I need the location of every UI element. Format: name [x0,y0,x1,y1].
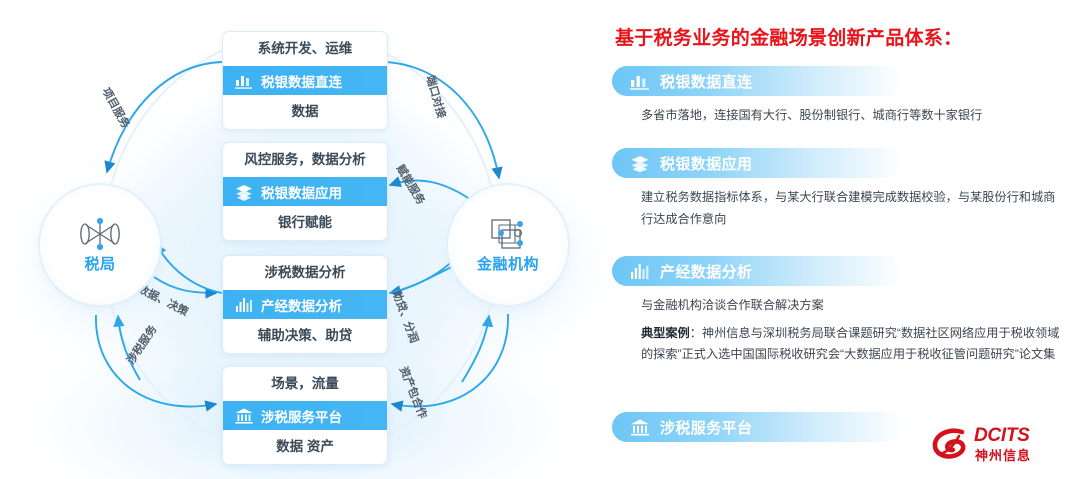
bar-chart-tall-icon [234,296,254,314]
dcits-swirl-logo-icon [932,427,970,461]
diagram-card-tax-bank-data-direct-connect[interactable]: 系统开发、运维 税银数据直连 数据 [222,31,388,130]
card-bottom-text: 数据 [223,95,387,129]
layers-icon [629,154,651,173]
section-body-line: 多省市落地，连接国有大行、股份制银行、城商行等数十家银行 [641,105,1064,127]
section-heading-label: 涉税服务平台 [660,417,752,438]
diagram-card-tax-bank-data-application[interactable]: 风控服务，数据分析 税银数据应用 银行赋能 [222,142,388,241]
card-highlight-label: 产经数据分析 [261,295,342,315]
card-highlight-row: 税银数据直连 [223,66,387,95]
ecosystem-diagram: 项目服务 数据、决策 涉税服务 端口对接 赋能服务 助贷、分润 资产包合作 税局 [0,0,600,479]
section-body: 建立税务数据指标体系，与某大行联合建模完成数据校验，与某股份行和城商行达成合作意… [612,187,1064,230]
diagram-card-industrial-economic-data-analysis[interactable]: 涉税数据分析 产经数据分析 辅助决策、助贷 [222,255,388,354]
bank-building-icon [234,407,254,425]
card-bottom-text: 辅助决策、助贷 [223,319,387,353]
card-highlight-label: 税银数据应用 [261,182,342,202]
card-top-text: 系统开发、运维 [223,32,387,66]
bar-chart-icon [234,72,254,90]
card-highlight-label: 涉税服务平台 [261,406,342,426]
section-heading-pill[interactable]: 税银数据应用 [612,148,904,178]
card-top-text: 风控服务，数据分析 [223,143,387,177]
section-heading-pill[interactable]: 涉税服务平台 [612,412,904,442]
card-highlight-row: 涉税服务平台 [223,401,387,430]
section-industrial-economic-data-analysis: 产经数据分析 与金融机构洽谈合作联合解决方案 典型案例：神州信息与深圳税务局联合… [612,256,1064,366]
card-highlight-label: 税银数据直连 [261,71,342,91]
node-tax-bureau-label: 税局 [84,253,115,274]
node-tax-bureau[interactable]: 税局 [47,192,153,298]
logo-name-cn: 神州信息 [975,445,1031,464]
panel-title: 基于税务业务的金融场景创新产品体系： [615,23,962,50]
diagram-card-tax-related-service-platform[interactable]: 场景，流量 涉税服务平台 数据 资产 [222,366,388,465]
bank-building-icon [629,418,651,437]
card-highlight-row: 税银数据应用 [223,177,387,206]
tax-bureau-icon [77,217,123,251]
node-financial-institution[interactable]: 金融机构 [455,192,561,298]
section-heading-label: 税银数据直连 [660,71,752,92]
bar-chart-tall-icon [629,262,651,281]
section-body-line: 建立税务数据指标体系，与某大行联合建模完成数据校验，与某股份行和城商行达成合作意… [641,187,1064,230]
section-heading-label: 产经数据分析 [660,261,752,282]
section-case-line: 典型案例：神州信息与深圳税务局联合课题研究“数据社区网络应用于税收领域的探索”正… [641,323,1064,366]
product-system-panel: 基于税务业务的金融场景创新产品体系： 税银数据直连 多省市落地，连接国有大行、股… [600,0,1080,479]
card-highlight-row: 产经数据分析 [223,290,387,319]
card-top-text: 场景，流量 [223,367,387,401]
section-tax-bank-data-application: 税银数据应用 建立税务数据指标体系，与某大行联合建模完成数据校验，与某股份行和城… [612,148,1064,230]
section-body-line: 与金融机构洽谈合作联合解决方案 [641,295,1064,317]
bar-chart-icon [629,72,651,91]
card-bottom-text: 数据 资产 [223,430,387,464]
card-bottom-text: 银行赋能 [223,206,387,240]
section-tax-bank-data-direct-connect: 税银数据直连 多省市落地，连接国有大行、股份制银行、城商行等数十家银行 [612,66,1064,127]
card-top-text: 涉税数据分析 [223,256,387,290]
section-heading-pill[interactable]: 税银数据直连 [612,66,904,96]
layers-icon [234,183,254,201]
node-financial-institution-label: 金融机构 [477,253,539,274]
case-label: 典型案例 [641,326,690,340]
logo-name-en: DCITS [974,425,1030,447]
company-logo: DCITS 神州信息 [932,423,1064,465]
section-body: 与金融机构洽谈合作联合解决方案 典型案例：神州信息与深圳税务局联合课题研究“数据… [612,295,1064,366]
section-body: 多省市落地，连接国有大行、股份制银行、城商行等数十家银行 [612,105,1064,127]
case-text: ：神州信息与深圳税务局联合课题研究“数据社区网络应用于税收领域的探索”正式入选中… [641,326,1059,362]
slide-root: 项目服务 数据、决策 涉税服务 端口对接 赋能服务 助贷、分润 资产包合作 税局 [0,0,1080,479]
section-heading-label: 税银数据应用 [660,153,752,174]
financial-institution-icon [485,217,531,251]
section-heading-pill[interactable]: 产经数据分析 [612,256,904,286]
